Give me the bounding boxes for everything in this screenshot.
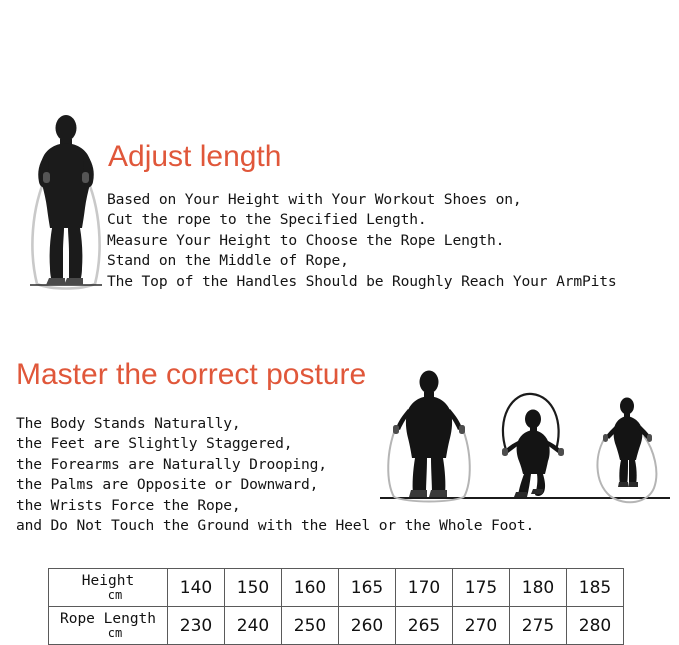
cell-height-6: 180 — [510, 569, 567, 607]
page-title: HOW TO SIZE A JUMP ROPE — [26, 19, 368, 51]
row-header-rope-length-label: Rope Length — [60, 611, 156, 627]
cell-height-2: 160 — [282, 569, 339, 607]
section-body-adjust-length: Based on Your Height with Your Workout S… — [107, 190, 617, 292]
cell-rope-6: 275 — [510, 607, 567, 645]
cell-height-7: 185 — [567, 569, 624, 607]
cell-height-1: 150 — [225, 569, 282, 607]
section-heading-adjust-length: Adjust length — [108, 140, 281, 174]
row-header-height: Heightcm — [49, 569, 168, 607]
row-header-rope-length: Rope Lengthcm — [49, 607, 168, 645]
table-row: Heightcm 140 150 160 165 170 175 180 185 — [49, 569, 624, 607]
cell-rope-1: 240 — [225, 607, 282, 645]
size-chart-body: Heightcm 140 150 160 165 170 175 180 185… — [49, 569, 624, 645]
cell-rope-0: 230 — [168, 607, 225, 645]
cell-height-0: 140 — [168, 569, 225, 607]
cell-rope-7: 280 — [567, 607, 624, 645]
table-row: Rope Lengthcm 230 240 250 260 265 270 27… — [49, 607, 624, 645]
row-header-height-label: Height — [82, 573, 134, 589]
section-heading-master-posture: Master the correct posture — [16, 358, 366, 392]
cell-rope-2: 250 — [282, 607, 339, 645]
cell-height-3: 165 — [339, 569, 396, 607]
cell-rope-3: 260 — [339, 607, 396, 645]
cell-rope-4: 265 — [396, 607, 453, 645]
size-chart-table: Heightcm 140 150 160 165 170 175 180 185… — [48, 568, 624, 645]
row-header-rope-length-unit: cm — [53, 627, 163, 639]
standing-figure-illustration — [14, 112, 118, 298]
cell-height-5: 175 — [453, 569, 510, 607]
row-header-height-unit: cm — [53, 589, 163, 601]
cell-height-4: 170 — [396, 569, 453, 607]
posture-figures-illustration — [378, 370, 677, 505]
cell-rope-5: 270 — [453, 607, 510, 645]
